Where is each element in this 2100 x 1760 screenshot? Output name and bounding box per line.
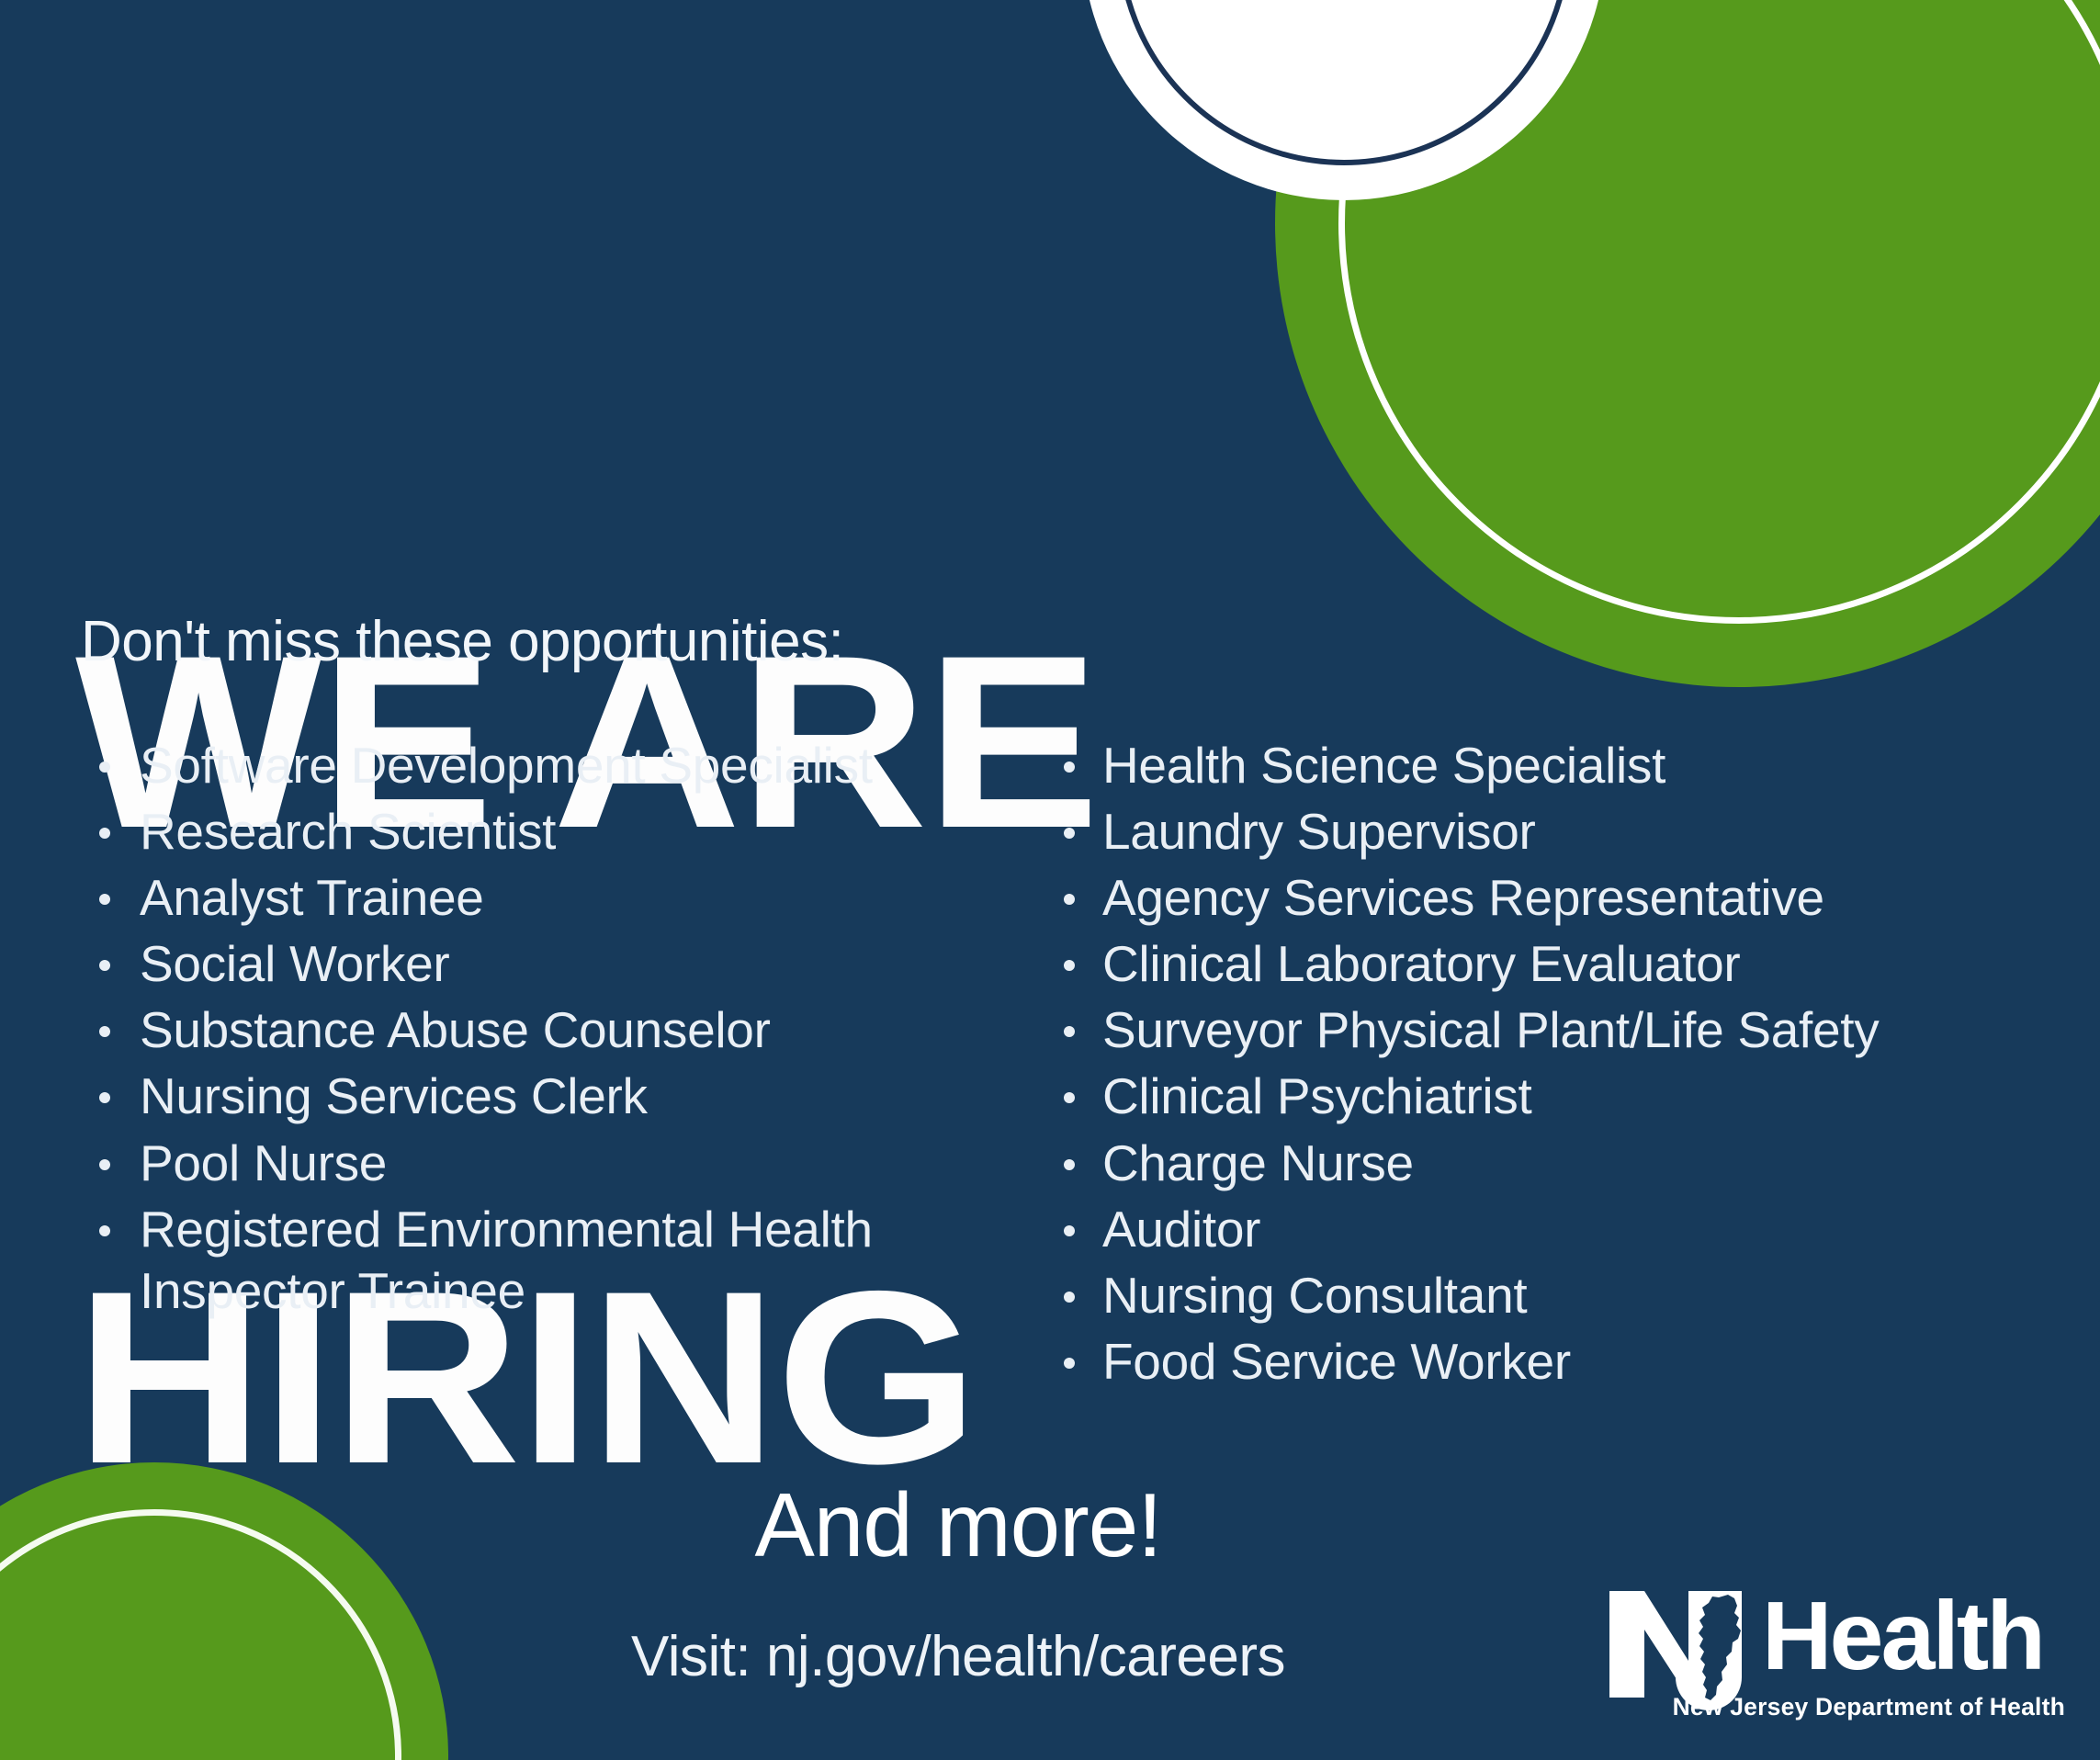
decorative-navy-ring-top-right bbox=[1117, 0, 1571, 165]
job-title: Software Development Specialist bbox=[140, 737, 873, 794]
job-title: Analyst Trainee bbox=[140, 869, 484, 926]
list-item[interactable]: Laundry Supervisor bbox=[1045, 801, 1973, 863]
job-title: Auditor bbox=[1102, 1201, 1260, 1258]
list-item[interactable]: Software Development Specialist bbox=[81, 735, 1009, 796]
and-more-text: And more! bbox=[0, 1473, 2100, 1577]
job-column-right: Health Science Specialist Laundry Superv… bbox=[1045, 735, 1973, 1397]
logo-tagline: New Jersey Department of Health bbox=[1673, 1693, 2065, 1721]
bullet-icon bbox=[1064, 1292, 1075, 1303]
bullet-icon bbox=[99, 1159, 110, 1170]
list-item[interactable]: Clinical Laboratory Evaluator bbox=[1045, 933, 1973, 995]
list-item[interactable]: Analyst Trainee bbox=[81, 867, 1009, 929]
bullet-icon bbox=[99, 1092, 110, 1103]
bullet-icon bbox=[99, 762, 110, 773]
job-title: Clinical Psychiatrist bbox=[1102, 1067, 1531, 1124]
job-title: Research Scientist bbox=[140, 803, 556, 860]
decorative-green-circle-top-right bbox=[1275, 0, 2100, 687]
bullet-icon bbox=[99, 828, 110, 839]
job-title: Pool Nurse bbox=[140, 1134, 387, 1191]
job-listings: Software Development Specialist Research… bbox=[81, 735, 2028, 1397]
list-item[interactable]: Auditor bbox=[1045, 1199, 1973, 1260]
list-item[interactable]: Pool Nurse bbox=[81, 1133, 1009, 1194]
list-item[interactable]: Health Science Specialist bbox=[1045, 735, 1973, 796]
bullet-icon bbox=[99, 1026, 110, 1037]
list-item[interactable]: Clinical Psychiatrist bbox=[1045, 1066, 1973, 1127]
list-item[interactable]: Surveyor Physical Plant/Life Safety bbox=[1045, 999, 1973, 1061]
subheading: Don't miss these opportunities: bbox=[81, 609, 843, 674]
bullet-icon bbox=[99, 894, 110, 905]
bullet-icon bbox=[1064, 828, 1075, 839]
job-title: Agency Services Representative bbox=[1102, 869, 1824, 926]
bullet-icon bbox=[1064, 960, 1075, 971]
job-title: Laundry Supervisor bbox=[1102, 803, 1536, 860]
hiring-poster: WE ARE HIRING Don't miss these opportuni… bbox=[0, 0, 2100, 1760]
list-item[interactable]: Nursing Services Clerk bbox=[81, 1066, 1009, 1127]
list-item[interactable]: Charge Nurse bbox=[1045, 1133, 1973, 1194]
job-title: Charge Nurse bbox=[1102, 1134, 1414, 1191]
job-title: Nursing Consultant bbox=[1102, 1267, 1527, 1324]
nj-health-logo: Health New Jersey Department of Health bbox=[1608, 1589, 2067, 1727]
list-item[interactable]: Research Scientist bbox=[81, 801, 1009, 863]
job-title: Clinical Laboratory Evaluator bbox=[1102, 935, 1740, 992]
bullet-icon bbox=[1064, 762, 1075, 773]
bullet-icon bbox=[1064, 1225, 1075, 1236]
bullet-icon bbox=[1064, 1026, 1075, 1037]
bullet-icon bbox=[1064, 1358, 1075, 1369]
decorative-white-ring-top-right bbox=[1338, 0, 2100, 624]
list-item[interactable]: Nursing Consultant bbox=[1045, 1265, 1973, 1326]
visit-url-label: Visit: nj.gov/health/careers bbox=[631, 1624, 1285, 1689]
list-item[interactable]: Social Worker bbox=[81, 933, 1009, 995]
bullet-icon bbox=[99, 1225, 110, 1236]
list-item[interactable]: Food Service Worker bbox=[1045, 1331, 1973, 1393]
job-title: Health Science Specialist bbox=[1102, 737, 1665, 794]
list-item[interactable]: Registered Environmental Health Inspecto… bbox=[81, 1199, 1009, 1322]
bullet-icon bbox=[1064, 894, 1075, 905]
job-list-left: Software Development Specialist Research… bbox=[81, 735, 1009, 1322]
and-more-label: And more! bbox=[754, 1473, 1161, 1577]
job-title: Surveyor Physical Plant/Life Safety bbox=[1102, 1001, 1879, 1058]
list-item[interactable]: Substance Abuse Counselor bbox=[81, 999, 1009, 1061]
decorative-white-circle-top-right bbox=[1082, 0, 1606, 200]
logo-wordmark: Health bbox=[1762, 1587, 2043, 1685]
list-item[interactable]: Agency Services Representative bbox=[1045, 867, 1973, 929]
bullet-icon bbox=[99, 960, 110, 971]
job-list-right: Health Science Specialist Laundry Superv… bbox=[1045, 735, 1973, 1393]
job-title: Social Worker bbox=[140, 935, 449, 992]
bullet-icon bbox=[1064, 1159, 1075, 1170]
job-title: Substance Abuse Counselor bbox=[140, 1001, 771, 1058]
job-title: Registered Environmental Health Inspecto… bbox=[140, 1201, 873, 1319]
job-title: Food Service Worker bbox=[1102, 1333, 1571, 1390]
job-title: Nursing Services Clerk bbox=[140, 1067, 648, 1124]
job-column-left: Software Development Specialist Research… bbox=[81, 735, 1009, 1397]
bullet-icon bbox=[1064, 1092, 1075, 1103]
